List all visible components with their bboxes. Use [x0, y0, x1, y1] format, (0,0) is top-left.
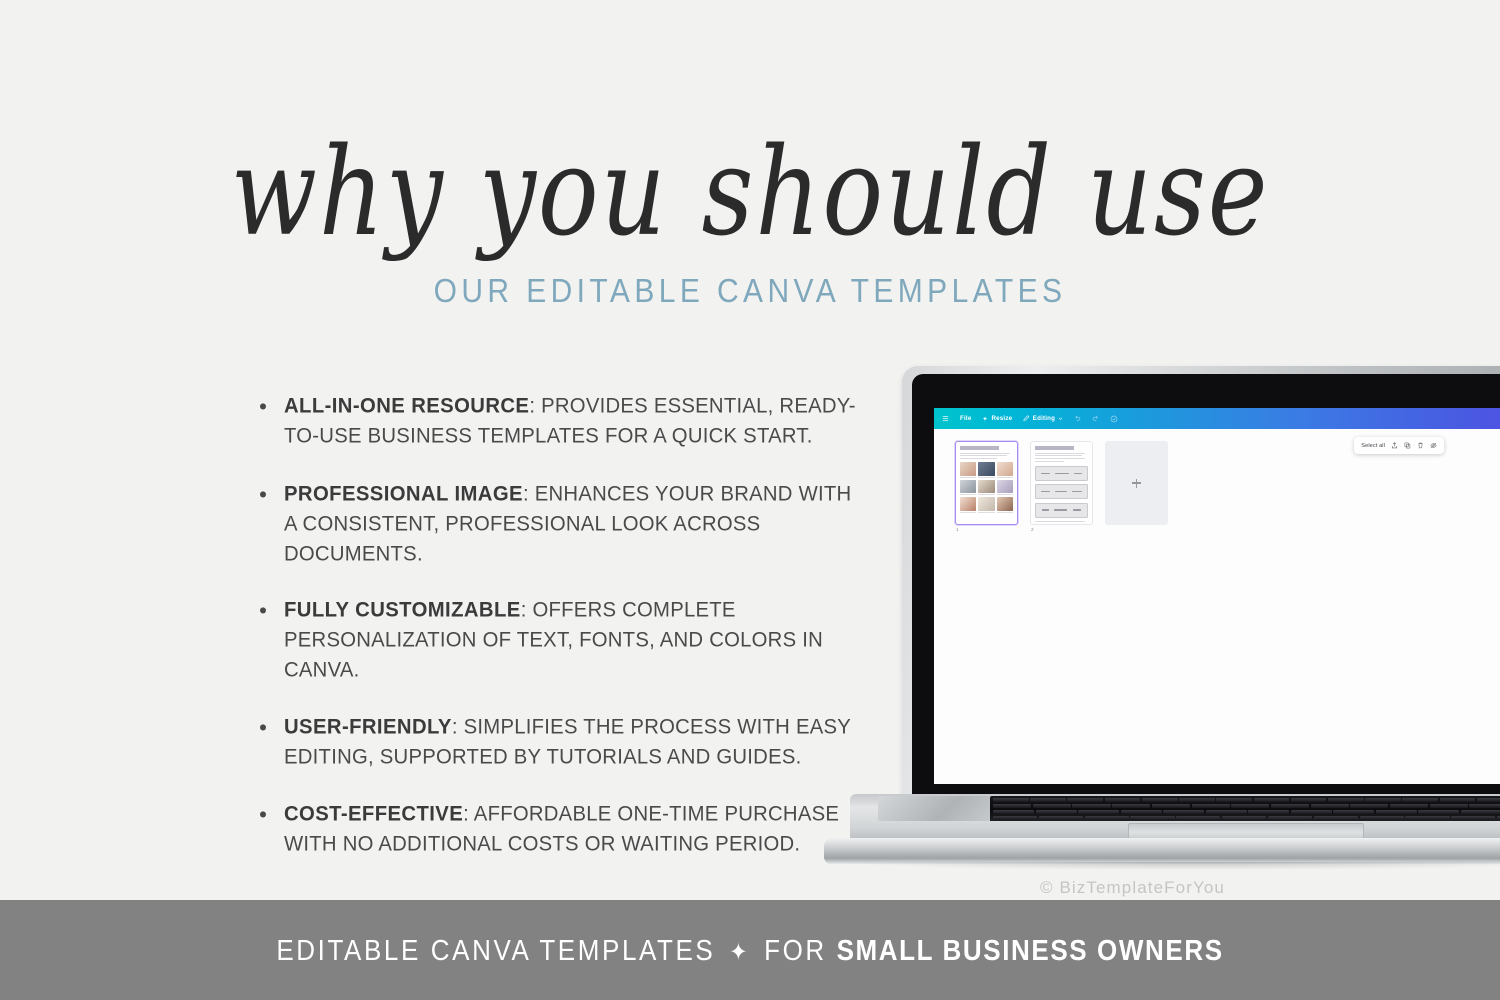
laptop-mockup: File Resize Editing — [824, 366, 1500, 876]
thumb-photo — [997, 480, 1013, 494]
footer-mid-text: FOR — [764, 933, 827, 966]
benefit-term: ALL-IN-ONE RESOURCE — [284, 395, 529, 418]
page-thumbnail[interactable] — [1030, 441, 1093, 525]
footer-emphasis-text: SMALL BUSINESS OWNERS — [837, 933, 1224, 966]
menu-resize-label: Resize — [991, 415, 1012, 422]
thumb-row — [1035, 503, 1088, 518]
sparkle-icon — [982, 416, 988, 422]
headline-block: why you should use OUR EDITABLE CANVA TE… — [0, 128, 1500, 307]
benefit-term: FULLY CUSTOMIZABLE — [284, 599, 521, 622]
undo-icon[interactable] — [1074, 415, 1081, 422]
page-slot-add — [1105, 441, 1168, 525]
select-all-button[interactable]: Select all — [1361, 443, 1385, 449]
thumb-photo — [978, 497, 994, 511]
select-all-toolbar: Select all — [1354, 437, 1444, 454]
thumb-row — [1035, 466, 1088, 481]
bullet-icon — [260, 403, 266, 409]
thumb-photo — [997, 462, 1013, 476]
canva-topbar: File Resize Editing — [934, 408, 1500, 429]
bullet-icon — [260, 491, 266, 497]
page-number: 2 — [1030, 527, 1093, 532]
hide-icon[interactable] — [1430, 442, 1437, 449]
copyright-symbol: © — [1040, 878, 1054, 897]
footer-text: EDITABLE CANVA TEMPLATES ✦ FOR SMALL BUS… — [276, 933, 1223, 967]
laptop-shadow — [838, 862, 1500, 870]
trackpad — [1128, 823, 1364, 839]
list-item: COST-EFFECTIVE: AFFORDABLE ONE-TIME PURC… — [256, 800, 856, 859]
bullet-icon — [260, 607, 266, 613]
menu-file-label: File — [960, 415, 971, 422]
benefits-list: ALL-IN-ONE RESOURCE: PROVIDES ESSENTIAL,… — [256, 392, 856, 858]
menu-editing-label: Editing — [1033, 415, 1055, 422]
thumb-photo-grid — [960, 462, 1013, 513]
trash-icon[interactable] — [1417, 442, 1424, 449]
hamburger-icon[interactable] — [942, 415, 949, 422]
plus-icon — [1132, 479, 1141, 488]
bullet-icon — [260, 811, 266, 817]
pencil-icon — [1023, 415, 1030, 422]
bullet-icon — [260, 724, 266, 730]
thumb-photo — [960, 497, 976, 511]
palm-rest — [878, 796, 990, 821]
thumb-photo — [978, 480, 994, 494]
thumb-title-bar — [1035, 446, 1074, 450]
chevron-down-icon — [1058, 416, 1063, 421]
thumb-title-bar — [960, 446, 999, 450]
page-title: why you should use — [15, 128, 1485, 259]
list-item: ALL-IN-ONE RESOURCE: PROVIDES ESSENTIAL,… — [256, 392, 856, 451]
redo-icon[interactable] — [1092, 415, 1099, 422]
benefit-separator: : — [529, 395, 541, 418]
page-thumbnail[interactable] — [955, 441, 1018, 525]
footer-lead-text: EDITABLE CANVA TEMPLATES — [276, 933, 715, 966]
benefit-term: USER-FRIENDLY — [284, 716, 452, 739]
thumb-photo — [960, 480, 976, 494]
poster-canvas: why you should use OUR EDITABLE CANVA TE… — [0, 0, 1500, 1000]
list-item: PROFESSIONAL IMAGE: ENHANCES YOUR BRAND … — [256, 480, 856, 569]
page-number: 1 — [955, 527, 1018, 532]
menu-editing[interactable]: Editing — [1023, 415, 1063, 422]
menu-resize[interactable]: Resize — [982, 415, 1012, 422]
benefit-term: PROFESSIONAL IMAGE — [284, 483, 523, 506]
diamond-icon: ✦ — [725, 937, 754, 965]
duplicate-icon[interactable] — [1404, 442, 1411, 449]
laptop-base — [824, 794, 1500, 876]
page-thumbnail-strip: 1 — [955, 441, 1168, 532]
footer-banner: EDITABLE CANVA TEMPLATES ✦ FOR SMALL BUS… — [0, 900, 1500, 1000]
page-slot-1: 1 — [955, 441, 1018, 532]
watermark-text: BizTemplateForYou — [1059, 878, 1224, 897]
thumb-row — [1035, 484, 1088, 499]
thumb-photo — [978, 462, 994, 476]
list-item: FULLY CUSTOMIZABLE: OFFERS COMPLETE PERS… — [256, 596, 856, 685]
list-item: USER-FRIENDLY: SIMPLIFIES THE PROCESS WI… — [256, 713, 856, 772]
cloud-check-icon[interactable] — [1110, 415, 1118, 423]
thumb-photo — [960, 462, 976, 476]
add-page-button[interactable] — [1105, 441, 1168, 525]
page-slot-2: 2 — [1030, 441, 1093, 532]
page-subtitle: OUR EDITABLE CANVA TEMPLATES — [0, 273, 1500, 311]
benefit-term: COST-EFFECTIVE — [284, 803, 463, 826]
laptop-front-edge — [824, 838, 1500, 864]
watermark: © BizTemplateForYou — [1040, 878, 1225, 898]
benefit-separator: : — [521, 599, 533, 622]
export-icon[interactable] — [1391, 442, 1398, 449]
benefit-separator: : — [452, 716, 464, 739]
benefit-separator: : — [463, 803, 474, 826]
laptop-screen: File Resize Editing — [934, 408, 1500, 784]
laptop-deck — [850, 794, 1500, 842]
benefit-separator: : — [523, 483, 535, 506]
thumb-photo — [997, 497, 1013, 511]
canva-canvas-area: Select all — [934, 429, 1500, 784]
keyboard — [990, 796, 1500, 821]
menu-file[interactable]: File — [960, 415, 971, 422]
